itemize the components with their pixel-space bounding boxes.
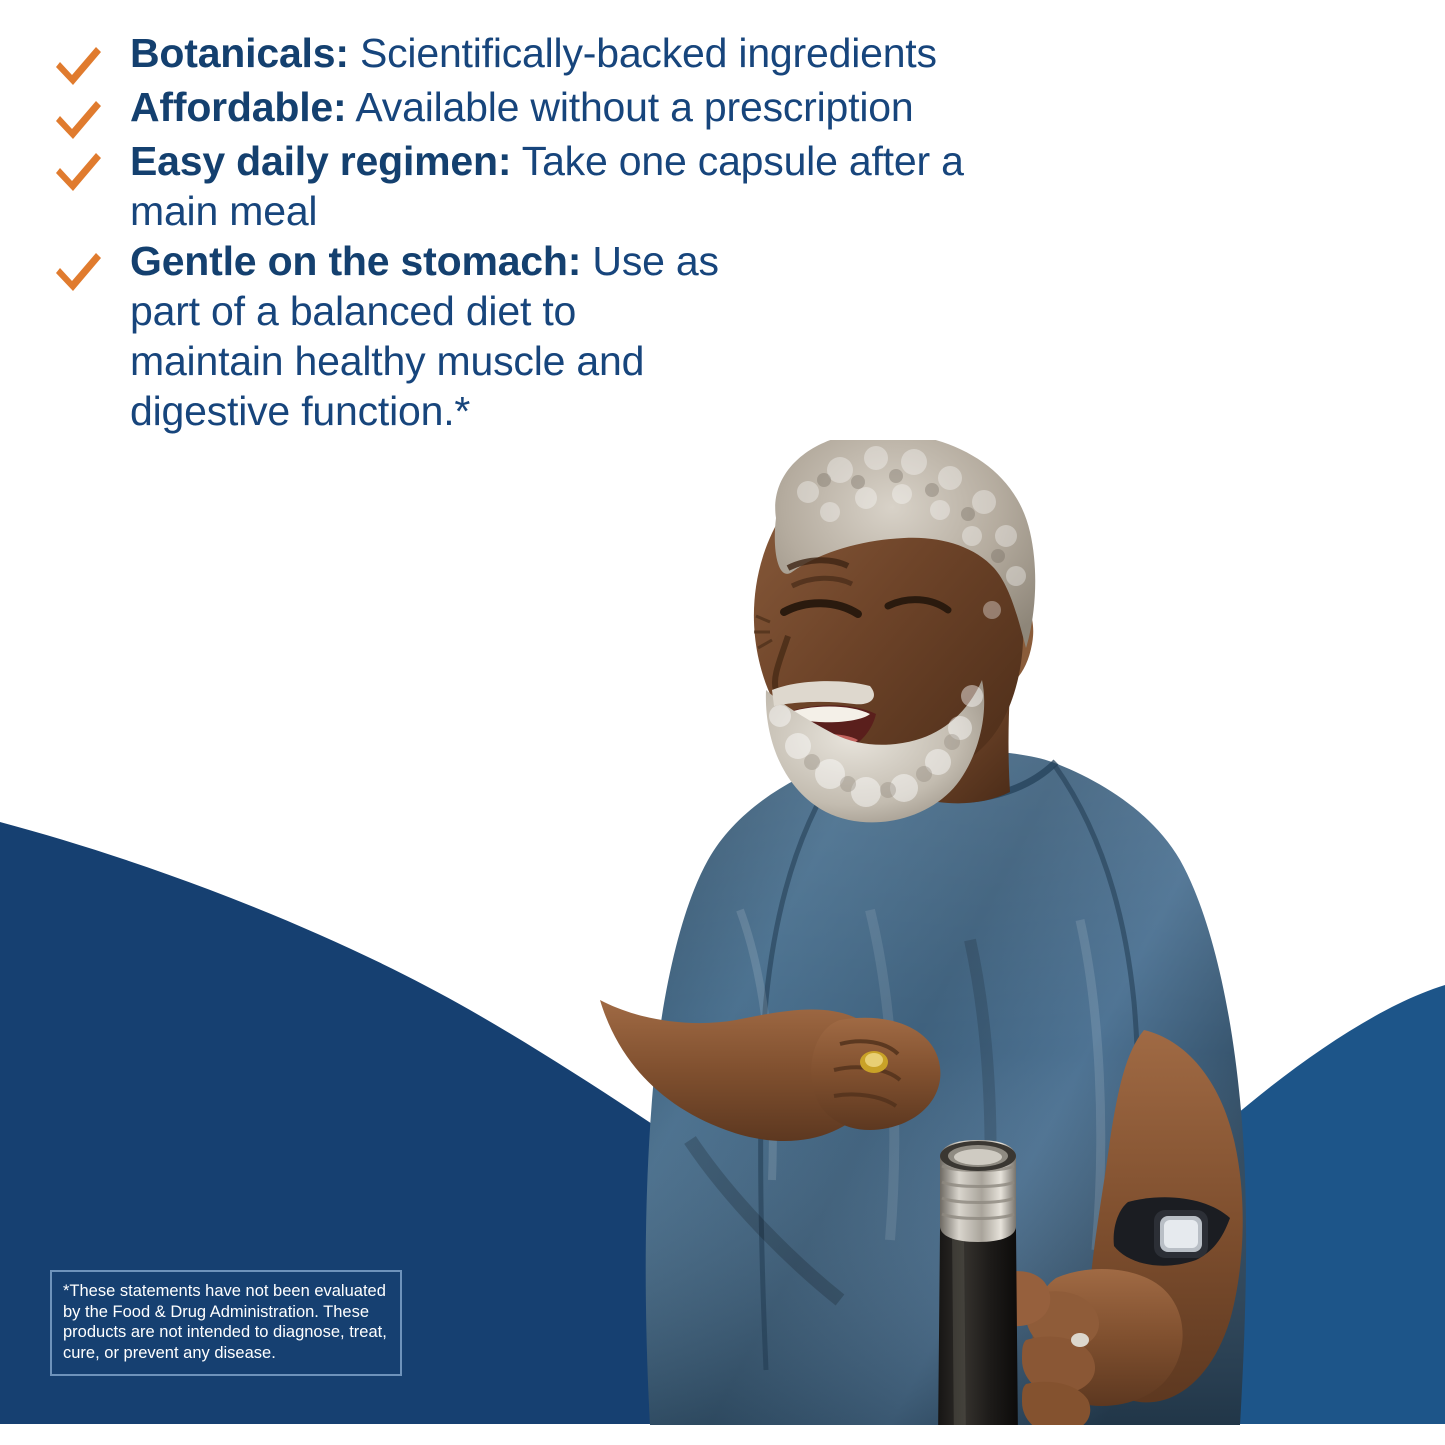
arm-left-raised (600, 1000, 940, 1141)
benefit-item-gentle-on-the-stomach: Gentle on the stomach: Use as part of a … (0, 236, 1220, 436)
benefit-item-botanicals: Botanicals: Scientifically-backed ingred… (0, 28, 1220, 82)
arm-right-holding-bottle (984, 1030, 1243, 1425)
benefit-lead: Botanicals: (130, 30, 349, 76)
benefits-list: Botanicals: Scientifically-backed ingred… (0, 0, 1220, 436)
wristwatch (1114, 1197, 1230, 1265)
benefit-body: Available without a prescription (346, 84, 913, 130)
torso-shirt (646, 749, 1246, 1425)
benefit-text: Easy daily regimen: Take one capsule aft… (130, 136, 1030, 236)
benefit-lead: Affordable: (130, 84, 346, 130)
disclaimer-text: *These statements have not been evaluate… (63, 1281, 389, 1363)
neck (882, 680, 1010, 803)
hero-photo-man-with-bottle (540, 440, 1445, 1425)
promo-image-canvas: Botanicals: Scientifically-backed ingred… (0, 0, 1445, 1445)
benefit-item-easy-daily-regimen: Easy daily regimen: Take one capsule aft… (0, 136, 1220, 236)
water-bottle (938, 1140, 1018, 1425)
head (754, 440, 1035, 822)
benefit-lead: Easy daily regimen: (130, 138, 511, 184)
benefit-text: Botanicals: Scientifically-backed ingred… (130, 28, 1220, 78)
benefit-body: Scientifically-backed ingredients (349, 30, 937, 76)
benefit-lead: Gentle on the stomach: (130, 238, 581, 284)
check-icon (52, 250, 104, 296)
disclaimer-box: *These statements have not been evaluate… (50, 1270, 402, 1376)
benefit-text: Affordable: Available without a prescrip… (130, 82, 1220, 132)
check-icon (52, 150, 104, 196)
bottom-white-strip (0, 1424, 1445, 1445)
benefit-item-affordable: Affordable: Available without a prescrip… (0, 82, 1220, 136)
benefit-text: Gentle on the stomach: Use as part of a … (130, 236, 730, 436)
